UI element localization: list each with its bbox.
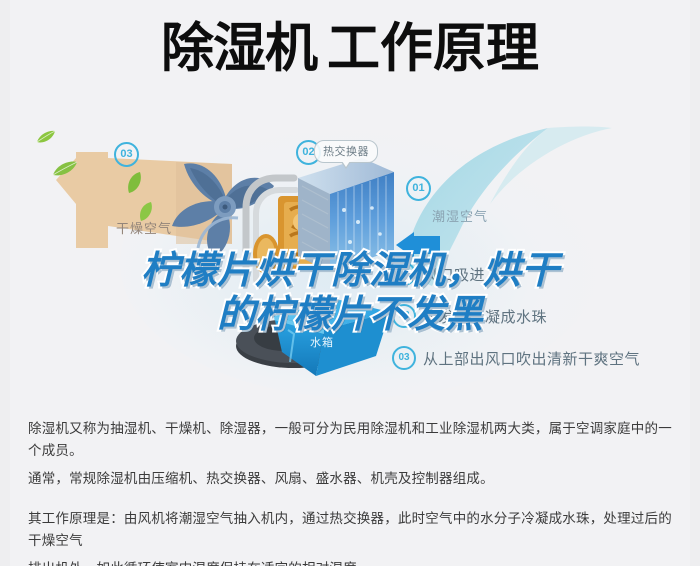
paragraph-1-line-1: 除湿机又称为抽湿机、干燥机、除湿器，一般可分为民用除湿机和工业除湿机两大类，属于… <box>28 418 676 462</box>
body-copy: 除湿机又称为抽湿机、干燥机、除湿器，一般可分为民用除湿机和工业除湿机两大类，属于… <box>28 418 676 566</box>
heat-exchanger-callout: 热交换器 <box>314 140 378 163</box>
leaf-icon <box>52 160 78 177</box>
diagram-badge-03: 03 <box>114 142 139 167</box>
caption-badge-01: 01 <box>392 262 416 286</box>
caption-row: 03 从上部出风口吹出清新干爽空气 <box>392 337 692 379</box>
paragraph-spacer <box>28 496 676 508</box>
paragraph-2-line-1: 其工作原理是：由风机将潮湿空气抽入机内，通过热交换器，此时空气中的水分子冷凝成水… <box>28 508 676 552</box>
heat-exchanger-icon <box>288 154 400 280</box>
page-title: 除湿机工作原理 <box>0 22 700 75</box>
title-part-two: 工作原理 <box>327 19 539 78</box>
leaf-icon <box>36 130 56 144</box>
infographic-page: 除湿机工作原理 <box>0 0 700 566</box>
caption-list: 01 风口吸进 02 蒸发器冷凝成水珠 03 从上部出风口吹出清新干爽空气 <box>392 253 692 379</box>
caption-text-03: 从上部出风口吹出清新干爽空气 <box>423 348 640 369</box>
paragraph-1-line-2: 通常，常规除湿机由压缩机、热交换器、风扇、盛水器、机壳及控制器组成。 <box>28 468 676 490</box>
caption-text-01: 风口吸进 <box>423 264 485 285</box>
paragraph-2-line-2: 排出机外，如此循环使室内湿度保持在适宜的相对湿度。 <box>28 558 676 566</box>
caption-badge-02: 02 <box>392 304 416 328</box>
title-part-one: 除湿机 <box>161 19 317 78</box>
label-dry-air: 干燥空气 <box>116 218 172 237</box>
caption-row: 01 风口吸进 <box>392 253 692 295</box>
caption-badge-03: 03 <box>392 346 416 370</box>
leaf-icon <box>126 172 143 194</box>
label-water-tank: 水箱 <box>310 334 334 350</box>
caption-text-02: 蒸发器冷凝成水珠 <box>423 306 547 327</box>
caption-row: 02 蒸发器冷凝成水珠 <box>392 295 692 337</box>
diagram-badge-01: 01 <box>406 176 431 201</box>
label-humid-air: 潮湿空气 <box>432 206 488 225</box>
